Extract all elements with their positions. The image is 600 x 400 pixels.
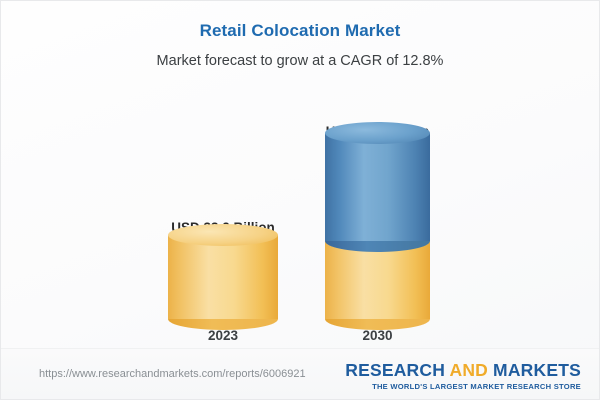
cylinder-2030[interactable]	[325, 133, 430, 319]
brand-tagline: THE WORLD'S LARGEST MARKET RESEARCH STOR…	[345, 382, 581, 391]
footer: https://www.researchandmarkets.com/repor…	[1, 348, 599, 399]
report-url[interactable]: https://www.researchandmarkets.com/repor…	[39, 368, 306, 380]
page-title: Retail Colocation Market	[1, 21, 599, 41]
axis-label-2030: 2030	[362, 328, 392, 343]
cylinder-segment-base-2030	[325, 241, 430, 319]
brand-logo[interactable]: RESEARCH AND MARKETS THE WORLD'S LARGEST…	[345, 360, 581, 391]
brand-logo-markets: MARKETS	[488, 360, 581, 380]
cylinder-top-cap-2030	[325, 122, 430, 144]
cylinder-segment-base-2023	[168, 235, 278, 319]
cylinder-body-base-2030	[325, 241, 430, 319]
brand-logo-research: RESEARCH	[345, 360, 449, 380]
brand-logo-wordmark: RESEARCH AND MARKETS	[345, 360, 581, 381]
cylinder-body-2023	[168, 235, 278, 319]
cylinder-body-growth-2030	[325, 133, 430, 241]
chart-subtitle: Market forecast to grow at a CAGR of 12.…	[1, 53, 599, 69]
cylinder-segment-growth-2030	[325, 133, 430, 241]
chart-card: Retail Colocation Market Market forecast…	[0, 0, 600, 400]
axis-label-2023: 2023	[208, 328, 238, 343]
brand-logo-and: AND	[449, 360, 488, 380]
cylinder-top-cap-2023	[168, 224, 278, 246]
plot-area: USD 33.2 Billion 2023 USD 77.4 Billion	[1, 81, 599, 351]
cylinder-2023[interactable]	[168, 235, 278, 319]
